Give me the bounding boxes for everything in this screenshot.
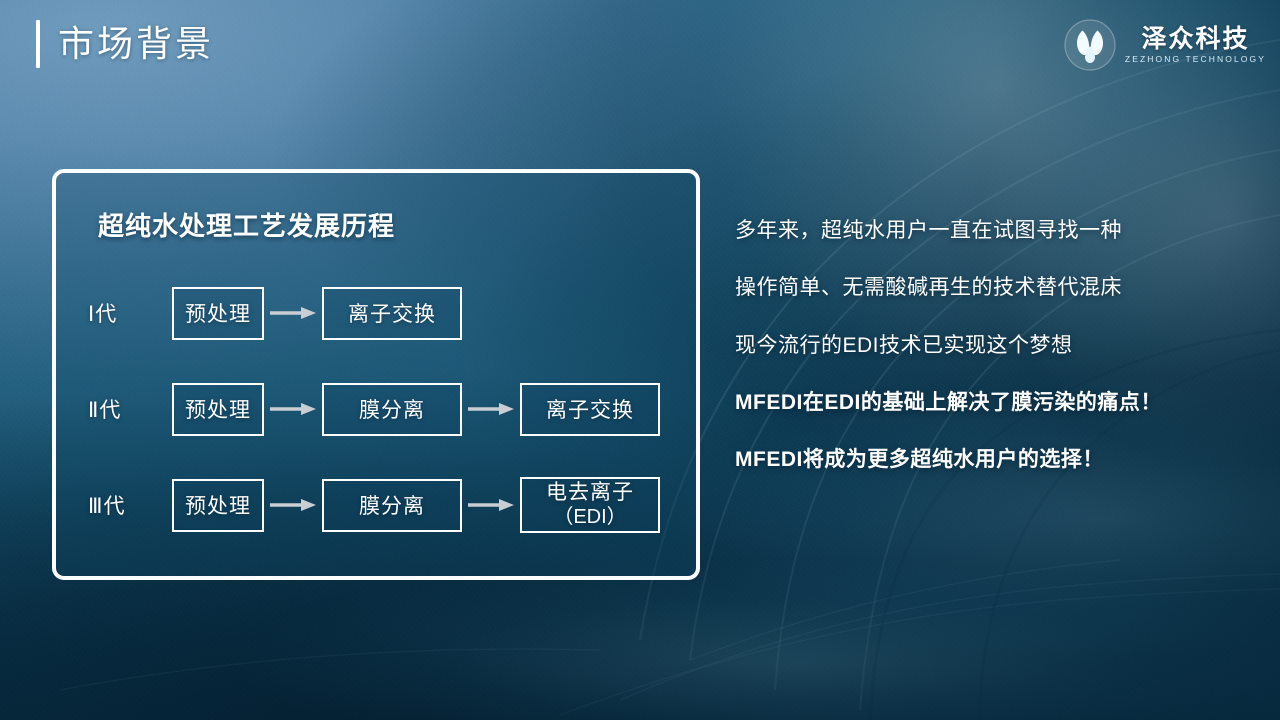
flow-node-edi-line1: 电去离子	[546, 481, 634, 505]
arrow-right-icon	[270, 498, 316, 512]
page-title: 市场背景	[58, 26, 214, 62]
flow-node-pretreatment: 预处理	[172, 383, 264, 436]
brand-name-block: 泽众科技 ZEZHONG TECHNOLOGY	[1125, 26, 1266, 64]
flow-diagram: Ⅰ代 预处理 离子交换 Ⅱ代 预处理	[56, 277, 696, 565]
right-text-block: 多年来，超纯水用户一直在试图寻找一种 操作简单、无需酸碱再生的技术替代混床 现今…	[735, 218, 1255, 473]
process-history-card: 超纯水处理工艺发展历程 Ⅰ代 预处理 离子交换 Ⅱ代 预处理	[52, 169, 700, 580]
arrow-right-icon	[270, 306, 316, 320]
right-text-line-3: 现今流行的EDI技术已实现这个梦想	[735, 333, 1255, 359]
card-title: 超纯水处理工艺发展历程	[98, 206, 395, 243]
flow-row-gen2: Ⅱ代 预处理 膜分离 离子交换	[56, 373, 696, 445]
arrow-right-icon	[270, 402, 316, 416]
flow-node-pretreatment: 预处理	[172, 287, 264, 340]
brand-name-en: ZEZHONG TECHNOLOGY	[1125, 54, 1266, 64]
water-drop-emblem-icon	[1063, 18, 1117, 72]
flow-node-membrane-separation: 膜分离	[322, 383, 462, 436]
generation-label: Ⅰ代	[88, 298, 172, 328]
right-text-line-5: MFEDI将成为更多超纯水用户的选择！	[735, 447, 1255, 473]
flow-node-ion-exchange: 离子交换	[520, 383, 660, 436]
right-text-line-4: MFEDI在EDI的基础上解决了膜污染的痛点！	[735, 390, 1255, 416]
flow-row-gen1: Ⅰ代 预处理 离子交换	[56, 277, 696, 349]
right-text-line-2: 操作简单、无需酸碱再生的技术替代混床	[735, 275, 1255, 301]
flow-node-edi: 电去离子 （EDI）	[520, 477, 660, 533]
flow-node-membrane-separation: 膜分离	[322, 479, 462, 532]
brand-logo: 泽众科技 ZEZHONG TECHNOLOGY	[1063, 18, 1266, 72]
right-text-line-1: 多年来，超纯水用户一直在试图寻找一种	[735, 218, 1255, 244]
arrow-right-icon	[468, 498, 514, 512]
brand-name-cn: 泽众科技	[1141, 26, 1249, 52]
page-header: 市场背景	[36, 20, 214, 68]
arrow-right-icon	[468, 402, 514, 416]
generation-label: Ⅱ代	[88, 394, 172, 424]
generation-label: Ⅲ代	[88, 490, 172, 520]
flow-node-pretreatment: 预处理	[172, 479, 264, 532]
flow-row-gen3: Ⅲ代 预处理 膜分离 电去离子	[56, 469, 696, 541]
flow-node-ion-exchange: 离子交换	[322, 287, 462, 340]
title-accent-bar	[36, 20, 40, 68]
flow-node-edi-line2: （EDI）	[553, 506, 626, 529]
slide-canvas: 市场背景 泽众科技 ZEZHONG TECHNOLOGY 超纯水处理工艺发展历程…	[0, 0, 1280, 720]
